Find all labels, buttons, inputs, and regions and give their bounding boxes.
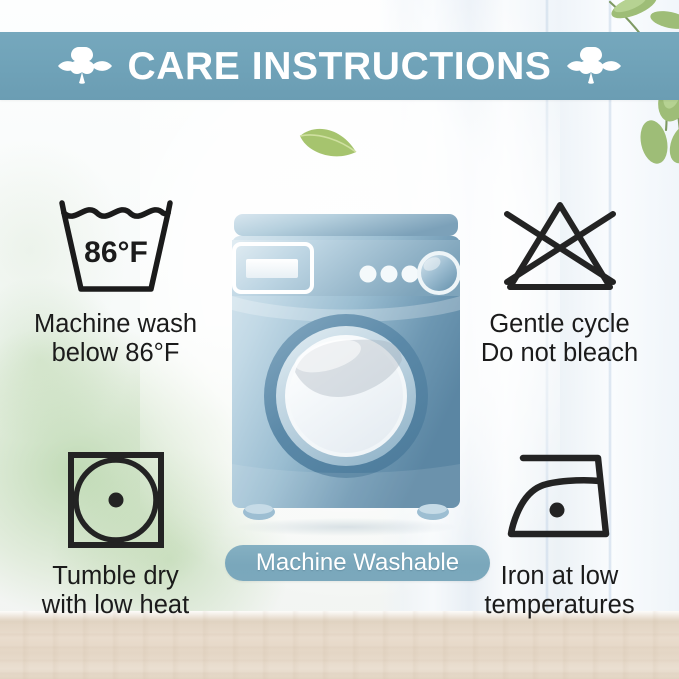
wash-tub-icon-wrap: 86°F — [53, 192, 179, 304]
table-wood-grain — [0, 611, 679, 679]
wash-tub-icon: 86°F — [53, 196, 179, 300]
caption-line: Tumble dry — [42, 562, 189, 591]
wooden-table-surface — [0, 611, 679, 679]
caption-line: Iron at low — [484, 562, 634, 591]
care-symbol-tumble-dry: Tumble dry with low heat — [8, 444, 223, 620]
machine-top-lid — [234, 214, 458, 236]
caption-line: Machine wash — [34, 310, 197, 339]
care-symbol-machine-wash: 86°F Machine wash below 86°F — [8, 192, 223, 368]
caption-line: below 86°F — [34, 339, 197, 368]
caption-line: Gentle cycle — [481, 310, 638, 339]
fleur-de-lis-icon — [566, 43, 622, 89]
caption-machine-wash: Machine wash below 86°F — [34, 310, 197, 368]
heat-level-dot — [108, 493, 123, 508]
caption-line: with low heat — [42, 591, 189, 620]
fleur-de-lis-icon — [57, 43, 113, 89]
tumble-dry-one-dot-icon — [60, 448, 172, 552]
caption-line: Do not bleach — [481, 339, 638, 368]
display-panel — [246, 259, 298, 278]
page-title: CARE INSTRUCTIONS — [113, 47, 565, 86]
triangle-crossed-out-icon — [497, 196, 623, 300]
care-instructions-graphic: CARE INSTRUCTIONS 86°F Machine was — [0, 0, 679, 679]
machine-washable-badge: Machine Washable — [225, 545, 490, 581]
tumble-dry-icon-wrap — [60, 444, 172, 556]
care-symbol-do-not-bleach: Gentle cycle Do not bleach — [452, 192, 667, 368]
caption-tumble-dry: Tumble dry with low heat — [42, 562, 189, 620]
header-banner: CARE INSTRUCTIONS — [0, 32, 679, 100]
heat-level-dot — [549, 503, 564, 518]
front-load-washing-machine-icon — [232, 214, 460, 524]
caption-line: temperatures — [484, 591, 634, 620]
machine-foot-top — [245, 504, 273, 514]
control-button[interactable] — [402, 266, 419, 283]
caption-do-not-bleach: Gentle cycle Do not bleach — [481, 310, 638, 368]
triangle-crossed-out-icon-wrap — [497, 192, 623, 304]
machine-foot-top — [419, 504, 447, 514]
control-button[interactable] — [381, 266, 398, 283]
badge-label: Machine Washable — [256, 551, 459, 575]
caption-iron-low: Iron at low temperatures — [484, 562, 634, 620]
control-button[interactable] — [360, 266, 377, 283]
iron-one-dot-icon — [497, 448, 623, 552]
iron-icon-wrap — [497, 444, 623, 556]
care-symbol-iron-low: Iron at low temperatures — [452, 444, 667, 620]
wash-temperature-value: 86°F — [84, 236, 148, 269]
